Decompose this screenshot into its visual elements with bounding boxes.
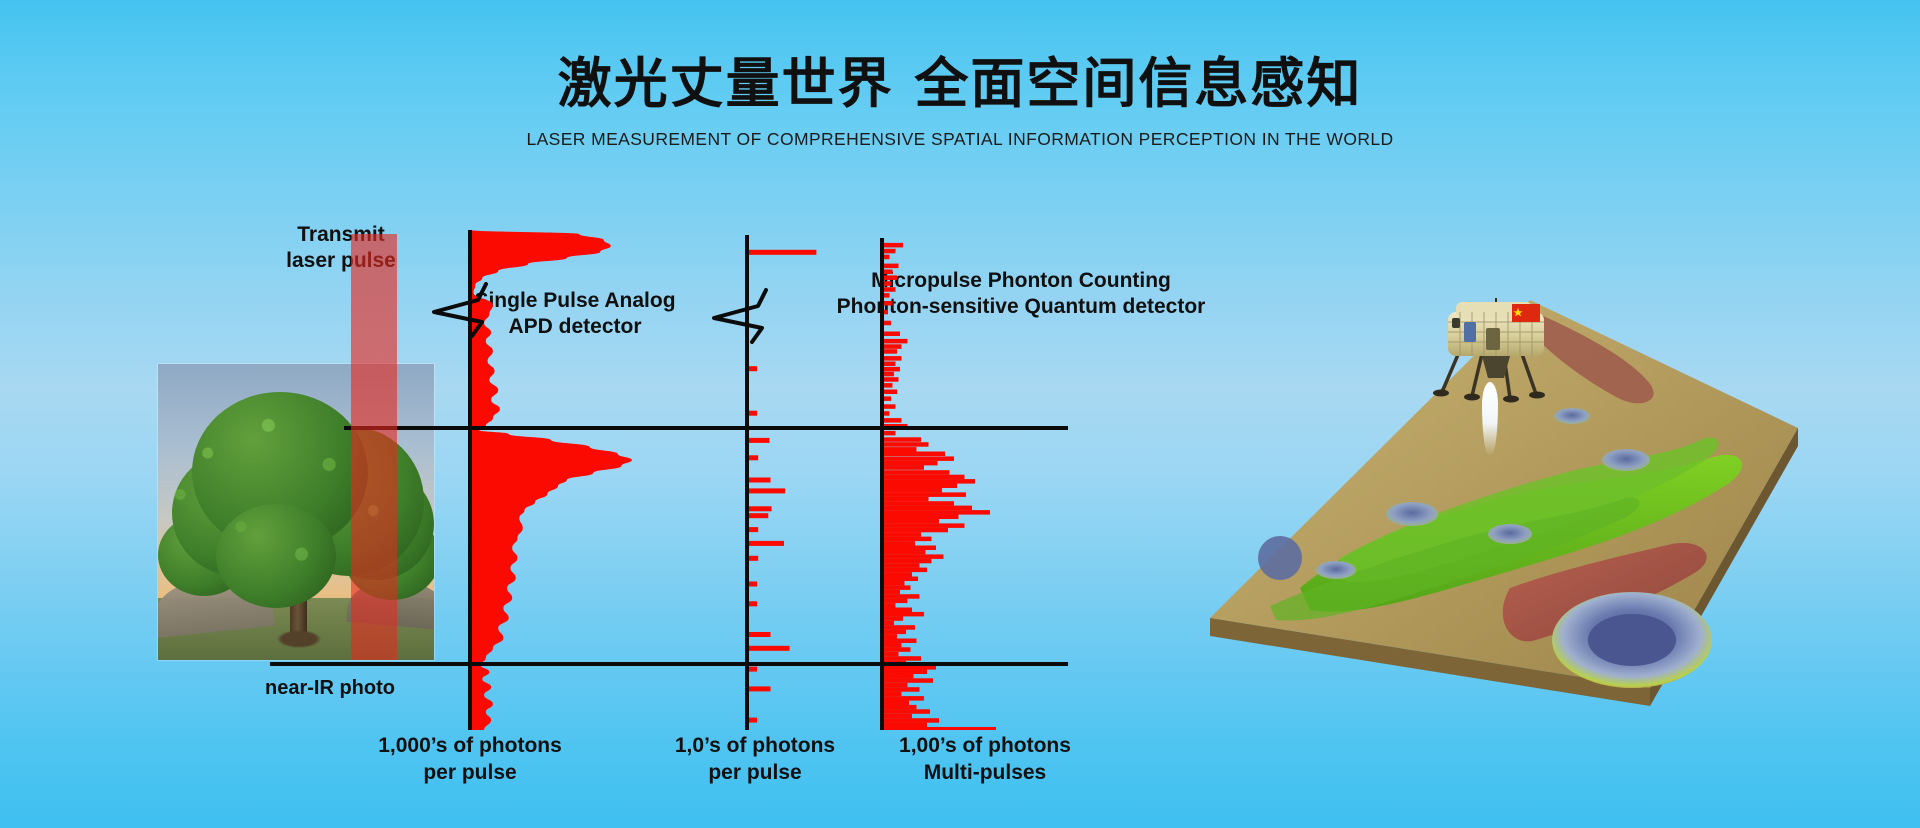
photon-bar — [882, 723, 927, 728]
photon-bar — [882, 683, 908, 688]
photon-bar — [882, 656, 921, 661]
page-subtitle-english: LASER MEASUREMENT OF COMPREHENSIVE SPATI… — [0, 113, 1920, 150]
photon-bar — [882, 442, 929, 447]
photon-bar — [882, 506, 972, 511]
header: 激光丈量世界 全面空间信息感知 LASER MEASUREMENT OF COM… — [0, 0, 1920, 150]
photon-bar — [882, 510, 990, 514]
photon-bar — [882, 692, 902, 697]
photon-bar — [747, 632, 771, 637]
terrain-crater-small — [1488, 524, 1532, 544]
lunar-lander-icon — [1426, 298, 1566, 408]
photon-bar — [882, 452, 945, 457]
lander-foot — [1433, 390, 1449, 397]
photon-bar — [882, 344, 902, 349]
page-title-chinese: 激光丈量世界 全面空间信息感知 — [0, 0, 1920, 113]
photon-bar — [882, 431, 896, 436]
photon-bar — [882, 550, 926, 555]
photon-bar — [882, 475, 965, 480]
photon-bar — [882, 501, 954, 506]
footer-label-multipulse: 1,00’s of photons Multi-pulses — [850, 732, 1120, 787]
photon-bar — [882, 634, 897, 639]
photon-bar — [882, 616, 903, 621]
footer-label-photon-counting: 1,0’s of photons per pulse — [625, 732, 885, 787]
terrain-crater-large-floor — [1588, 614, 1676, 666]
photon-bar — [882, 515, 959, 520]
photon-bar — [882, 647, 911, 652]
photon-bar — [882, 484, 957, 489]
photon-bar — [882, 492, 966, 497]
photon-bar — [882, 447, 917, 452]
photon-bar — [882, 554, 944, 559]
photon-bar — [882, 332, 900, 337]
photon-bar — [882, 349, 897, 354]
photon-bar — [882, 705, 917, 710]
photon-bar — [747, 686, 771, 691]
photon-bar — [747, 646, 790, 651]
slide-canvas: 激光丈量世界 全面空间信息感知 LASER MEASUREMENT OF COM… — [0, 0, 1920, 828]
photon-bar — [747, 541, 784, 546]
photon-bar — [882, 709, 930, 714]
photon-bar — [882, 339, 908, 344]
terrain-crater-small — [1602, 449, 1650, 471]
photon-bar — [882, 264, 899, 269]
terrain-crater-small — [1316, 561, 1356, 579]
photon-bar — [882, 456, 954, 461]
photon-bar — [882, 674, 900, 679]
photon-bar — [882, 541, 915, 546]
photon-bar — [882, 603, 896, 608]
photon-bar — [882, 577, 918, 582]
footer-label-single-pulse: 1,000’s of photons per pulse — [330, 732, 610, 787]
photon-bar — [882, 608, 912, 613]
photon-bar — [882, 537, 932, 542]
photon-bar — [882, 701, 909, 706]
photon-bar — [882, 249, 896, 254]
photon-bar — [882, 287, 896, 292]
photon-bar — [882, 377, 899, 382]
photon-bar — [747, 506, 772, 511]
photon-bar — [882, 590, 900, 595]
lander-instrument — [1464, 322, 1476, 342]
photon-bar — [882, 356, 902, 361]
photon-bar — [747, 250, 816, 255]
photon-bar — [882, 497, 929, 502]
photon-bar — [882, 639, 917, 644]
photon-bar — [882, 437, 921, 442]
photon-bar — [882, 572, 912, 577]
photon-bar — [882, 465, 924, 470]
near-ir-photo-label: near-IR photo — [205, 676, 455, 701]
photon-bar — [882, 479, 975, 484]
photon-bar — [882, 652, 899, 657]
photon-bar — [882, 546, 936, 551]
photon-bar — [882, 594, 920, 599]
photon-bar — [882, 275, 897, 280]
photon-bar — [882, 643, 902, 648]
photon-bar — [882, 418, 902, 423]
lander-foot — [1464, 394, 1480, 401]
laser-beam-icon — [351, 234, 397, 660]
photon-bar — [747, 488, 785, 493]
photon-bar — [882, 563, 920, 568]
photon-bar — [747, 513, 768, 518]
photon-bar — [882, 519, 939, 524]
photon-bar — [882, 696, 924, 701]
axis-break-zigzag-icon — [432, 282, 498, 340]
photon-bar — [882, 404, 896, 409]
photon-bar — [882, 630, 906, 635]
photon-bar — [882, 532, 921, 537]
waveform-micropulse-dense — [882, 238, 1072, 730]
photon-bar — [882, 727, 996, 730]
photon-bar — [747, 438, 769, 443]
terrain-crater-small — [1554, 408, 1590, 424]
photon-bar — [882, 612, 924, 617]
photon-bar — [882, 390, 897, 395]
photon-bar — [882, 581, 905, 586]
lander-instrument — [1452, 318, 1460, 328]
photon-bar — [882, 625, 915, 630]
terrain-crater-small — [1258, 536, 1302, 580]
photon-bar — [882, 559, 932, 564]
photon-bar — [882, 488, 942, 493]
photon-bar — [882, 687, 920, 692]
photon-bar — [882, 678, 933, 683]
photon-bar — [882, 362, 896, 367]
waveform-analog-single-pulse — [470, 230, 660, 730]
photon-bar — [882, 585, 911, 590]
terrain-crater-small — [1386, 502, 1438, 526]
photon-bar — [882, 470, 950, 475]
photon-bar — [882, 714, 912, 719]
canopy-reference-line — [344, 426, 1068, 430]
photon-bar — [882, 718, 939, 723]
waveform-axis-3 — [880, 238, 884, 730]
photon-bar — [882, 461, 938, 466]
photon-bar — [882, 523, 965, 528]
lander-foot — [1529, 392, 1545, 399]
photon-bar — [747, 478, 771, 483]
photon-bar — [882, 528, 948, 533]
transmit-laser-pulse-label: Transmit laser pulse — [236, 222, 446, 274]
photon-bar — [882, 599, 908, 604]
lander-instrument — [1486, 328, 1500, 350]
photon-bar — [882, 367, 900, 372]
axis-break-zigzag-icon — [712, 288, 778, 346]
ground-reference-line — [270, 662, 1068, 666]
photon-bar — [882, 568, 927, 573]
lander-foot — [1503, 396, 1519, 403]
photon-bar — [882, 243, 903, 248]
